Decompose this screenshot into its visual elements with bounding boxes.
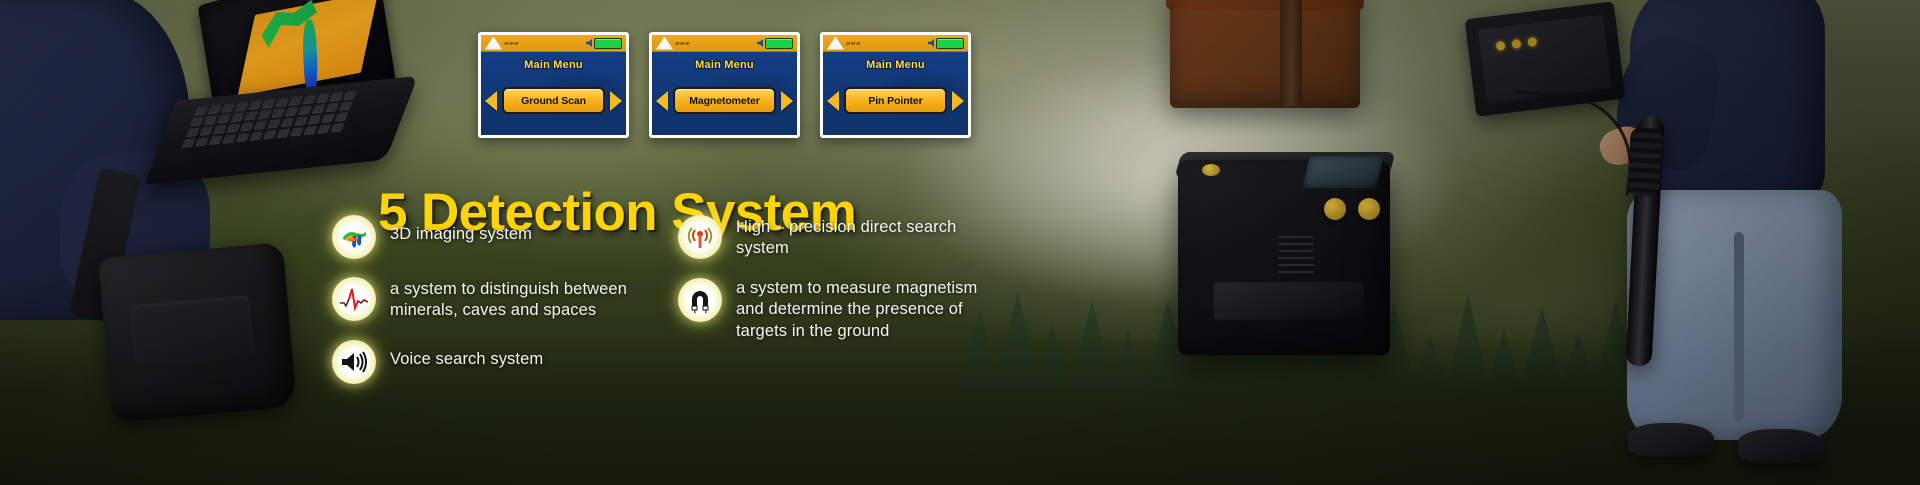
feature-column-left: 3D imaging system a system to distinguis… — [332, 215, 662, 402]
probe-grip — [1627, 127, 1663, 197]
feature-label: a system to distinguish between minerals… — [390, 277, 662, 322]
device-logo-icon — [656, 37, 673, 50]
waveform-icon — [332, 277, 376, 321]
menu-brand-label: ▰▰▰ — [846, 40, 928, 47]
next-arrow-icon[interactable] — [952, 91, 964, 111]
operator2-shoe-left — [1628, 423, 1714, 457]
menu-statusbar: ▰▰▰ — [481, 35, 626, 52]
prev-arrow-icon[interactable] — [485, 91, 497, 111]
menu-title: Main Menu — [481, 59, 626, 71]
jeans-leg-divider — [1734, 232, 1744, 422]
feature-label: a system to measure magnetism and determ… — [736, 278, 1008, 342]
feature-item-3d-imaging: 3D imaging system — [332, 215, 662, 259]
menu-card-ground-scan[interactable]: ▰▰▰ Main Menu Ground Scan — [478, 32, 629, 138]
detector-vents — [1278, 236, 1314, 276]
next-arrow-icon[interactable] — [610, 91, 622, 111]
feature-column-right: High – precision direct search system a … — [678, 215, 1008, 360]
menu-selector-row: Magnetometer — [652, 87, 797, 114]
battery-indicator — [586, 38, 622, 49]
menu-card-pin-pointer[interactable]: ▰▰▰ Main Menu Pin Pointer — [820, 32, 971, 138]
battery-indicator — [928, 38, 964, 49]
detector-knobs — [1324, 198, 1380, 220]
speaker-icon — [332, 340, 376, 384]
menu-card-magnetometer[interactable]: ▰▰▰ Main Menu Magnetometer — [649, 32, 800, 138]
menu-mode-button[interactable]: Ground Scan — [502, 87, 605, 114]
prev-arrow-icon[interactable] — [656, 91, 668, 111]
menu-mode-button[interactable]: Pin Pointer — [844, 87, 947, 114]
feature-label: 3D imaging system — [390, 215, 532, 245]
feature-item-mineral-discrimination: a system to distinguish between minerals… — [332, 277, 662, 322]
speaker-small-icon — [757, 39, 763, 47]
right-photo-operator — [1300, 0, 1920, 485]
feature-label: High – precision direct search system — [736, 215, 1008, 260]
3d-imaging-icon — [332, 215, 376, 259]
device-logo-icon — [827, 37, 844, 50]
battery-indicator — [757, 38, 793, 49]
feature-label: Voice search system — [390, 340, 543, 370]
menu-brand-label: ▰▰▰ — [504, 40, 586, 47]
menu-brand-label: ▰▰▰ — [675, 40, 757, 47]
battery-bar-icon — [765, 38, 793, 49]
next-arrow-icon[interactable] — [781, 91, 793, 111]
tablet-screen — [1478, 15, 1612, 104]
menu-selector-row: Pin Pointer — [823, 87, 968, 114]
battery-bar-icon — [594, 38, 622, 49]
feature-item-high-precision: High – precision direct search system — [678, 215, 1008, 260]
menu-title: Main Menu — [823, 59, 968, 71]
device-logo-icon — [485, 37, 502, 50]
detector-brand-emboss — [1214, 282, 1364, 320]
treasure-chest — [1170, 0, 1360, 108]
feature-item-voice-search: Voice search system — [332, 340, 662, 384]
prev-arrow-icon[interactable] — [827, 91, 839, 111]
menu-mode-button[interactable]: Magnetometer — [673, 87, 776, 114]
detector-display — [1302, 156, 1384, 188]
signal-antenna-icon — [678, 215, 722, 259]
battery-bar-icon — [936, 38, 964, 49]
menu-selector-row: Ground Scan — [481, 87, 626, 114]
menu-statusbar: ▰▰▰ — [823, 35, 968, 52]
treasure-chest-band — [1280, 0, 1302, 106]
menu-title: Main Menu — [652, 59, 797, 71]
product-banner: ▰▰▰ Main Menu Ground Scan ▰▰▰ — [0, 0, 1920, 485]
speaker-small-icon — [928, 39, 934, 47]
detector-gold-clip — [1202, 164, 1220, 176]
device-menu-screens: ▰▰▰ Main Menu Ground Scan ▰▰▰ — [478, 32, 971, 138]
feature-item-magnetism: a system to measure magnetism and determ… — [678, 278, 1008, 342]
laptop-3d-scan — [135, 0, 412, 192]
operator2-shoe-right — [1738, 429, 1824, 463]
speaker-small-icon — [586, 39, 592, 47]
magnet-icon — [678, 278, 722, 322]
bag-pocket — [130, 295, 255, 367]
menu-statusbar: ▰▰▰ — [652, 35, 797, 52]
